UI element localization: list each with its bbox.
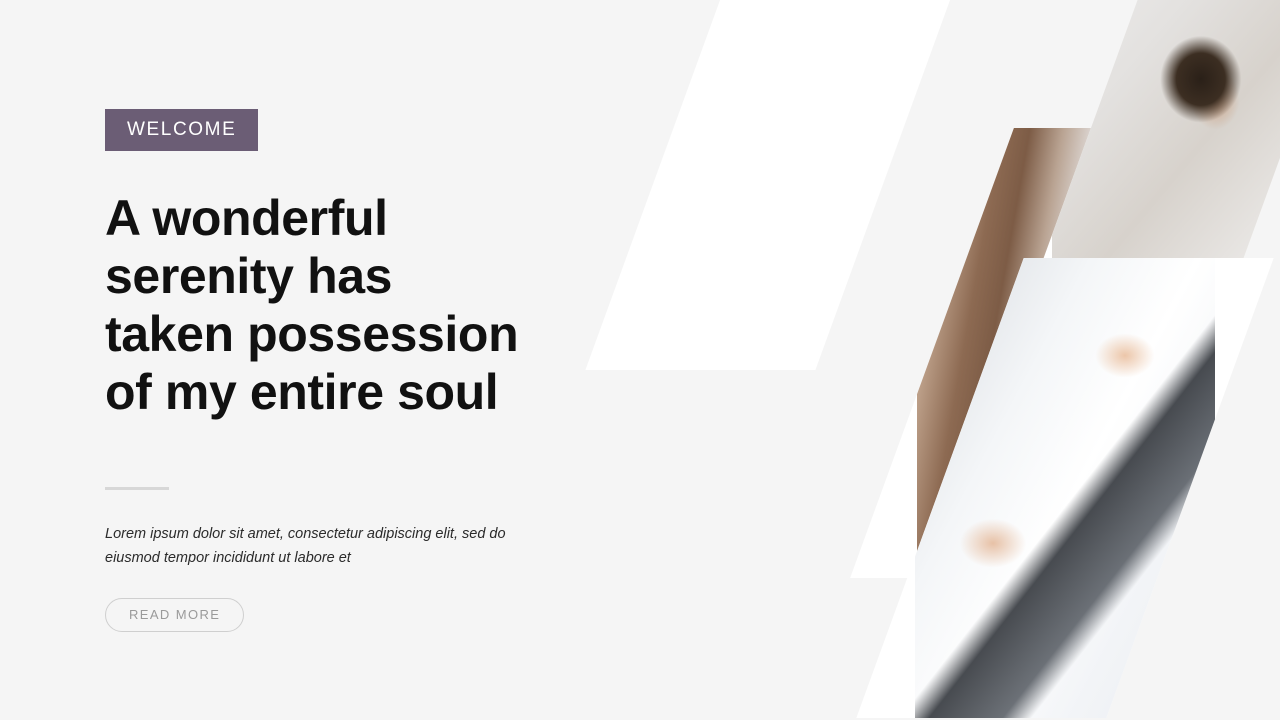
content-column: WELCOME A wonderful serenity has taken p… bbox=[105, 109, 565, 632]
welcome-badge: WELCOME bbox=[105, 109, 258, 151]
slide-root: WELCOME A wonderful serenity has taken p… bbox=[0, 0, 1280, 720]
read-more-button[interactable]: READ MORE bbox=[105, 598, 244, 632]
panel-woman-red-hair bbox=[585, 0, 964, 370]
page-title: A wonderful serenity has taken possessio… bbox=[105, 189, 525, 421]
intro-paragraph: Lorem ipsum dolor sit amet, consectetur … bbox=[105, 522, 525, 570]
divider bbox=[105, 487, 169, 490]
panel-woman-red-hair-image bbox=[637, 0, 913, 370]
image-collage bbox=[640, 0, 1280, 720]
